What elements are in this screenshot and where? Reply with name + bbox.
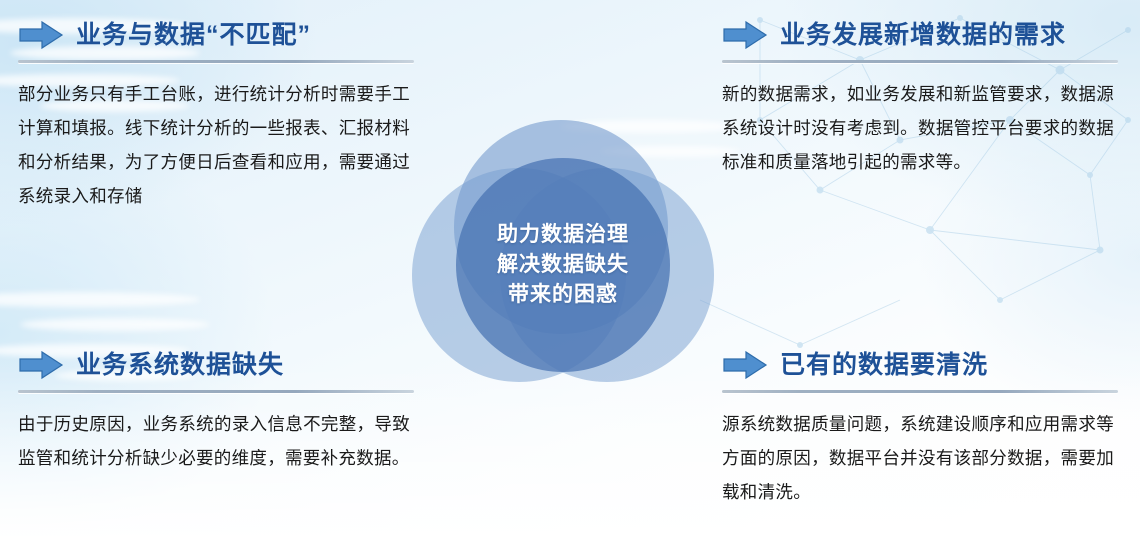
block-title: 业务与数据“不匹配”: [76, 23, 311, 48]
block-body-text: 源系统数据质量问题，系统建设顺序和应用需求等方面的原因，数据平台并没有该部分数据…: [722, 407, 1114, 509]
block-header: 已有的数据要清洗: [722, 344, 1122, 386]
center-title-line-3: 带来的困惑: [508, 280, 618, 310]
block-title: 业务系统数据缺失: [76, 353, 284, 378]
block-new-data-demand: 业务发展新增数据的需求 新的数据需求，如业务发展和新监管要求，数据源系统设计时没…: [722, 14, 1122, 179]
center-title: 助力数据治理 解决数据缺失 带来的困惑: [456, 158, 670, 372]
block-header: 业务与数据“不匹配”: [18, 14, 418, 56]
arrow-right-icon: [18, 350, 64, 380]
center-title-line-2: 解决数据缺失: [497, 250, 629, 280]
block-business-data-mismatch: 业务与数据“不匹配” 部分业务只有手工台账，进行统计分析时需要手工计算和填报。线…: [18, 14, 418, 214]
block-title: 业务发展新增数据的需求: [780, 23, 1066, 48]
block-divider: [18, 60, 414, 63]
block-header: 业务系统数据缺失: [18, 344, 418, 386]
block-header: 业务发展新增数据的需求: [722, 14, 1122, 56]
center-title-line-1: 助力数据治理: [497, 220, 629, 250]
block-body-text: 部分业务只有手工台账，进行统计分析时需要手工计算和填报。线下统计分析的一些报表、…: [18, 77, 410, 214]
arrow-right-icon: [722, 20, 768, 50]
block-body-text: 新的数据需求，如业务发展和新监管要求，数据源系统设计时没有考虑到。数据管控平台要…: [722, 77, 1114, 179]
block-system-data-missing: 业务系统数据缺失 由于历史原因，业务系统的录入信息不完整，导致监管和统计分析缺少…: [18, 344, 418, 475]
block-divider: [722, 390, 1118, 393]
arrow-right-icon: [722, 350, 768, 380]
block-body-text: 由于历史原因，业务系统的录入信息不完整，导致监管和统计分析缺少必要的维度，需要补…: [18, 407, 410, 475]
center-circle-graphic: 助力数据治理 解决数据缺失 带来的困惑: [408, 112, 728, 402]
arrow-right-icon: [18, 20, 64, 50]
block-existing-data-cleanse: 已有的数据要清洗 源系统数据质量问题，系统建设顺序和应用需求等方面的原因，数据平…: [722, 344, 1122, 509]
block-divider: [722, 60, 1118, 63]
block-title: 已有的数据要清洗: [780, 353, 988, 378]
block-divider: [18, 390, 414, 393]
slide-canvas: 助力数据治理 解决数据缺失 带来的困惑 业务与数据“不匹配” 部分业务只有手工台…: [0, 0, 1140, 536]
